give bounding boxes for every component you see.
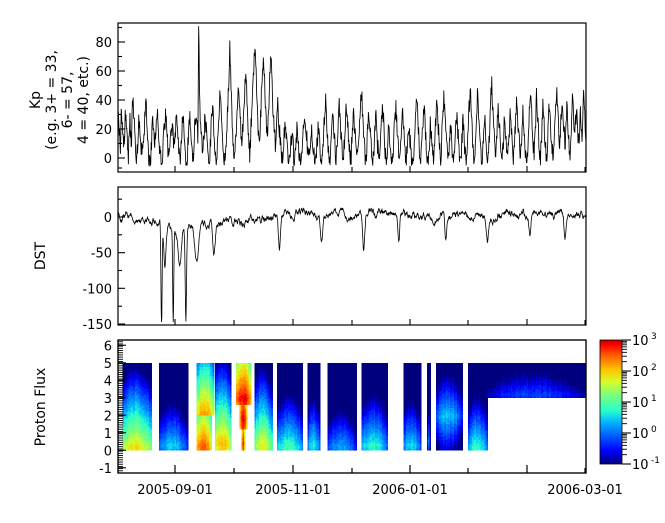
kp-axis-title-line2: (e.g. 3+ = 33, xyxy=(44,50,60,150)
multi-panel-plot: 0 20 40 60 80 Kp (e.g. 3+ = 33, 6- = 57,… xyxy=(0,0,665,523)
kp-ytick-40: 40 xyxy=(95,94,112,109)
flux-cell xyxy=(210,449,212,451)
flux-cell xyxy=(230,449,232,451)
dst-ytick-0: 0 xyxy=(104,211,112,226)
panel-kp: 0 20 40 60 80 Kp (e.g. 3+ = 33, 6- = 57,… xyxy=(28,23,586,172)
figure-root: 0 20 40 60 80 Kp (e.g. 3+ = 33, 6- = 57,… xyxy=(0,0,665,523)
dst-y-tick-labels: 0 -50 -100 -150 xyxy=(82,211,112,333)
dst-ytick-50: -50 xyxy=(91,247,112,262)
kp-ytick-80: 80 xyxy=(95,36,112,51)
kp-plot-frame xyxy=(118,23,586,172)
kp-axis-title: Kp (e.g. 3+ = 33, 6- = 57, 4 = 40, etc.) xyxy=(28,50,92,150)
kp-y-tick-labels: 0 20 40 60 80 xyxy=(95,36,112,167)
kp-axis-title-line4: 4 = 40, etc.) xyxy=(76,56,92,144)
panel-dst: 0 -50 -100 -150 DST xyxy=(33,187,586,333)
flux-cell xyxy=(150,449,152,451)
dst-ytick-150: -150 xyxy=(82,318,112,333)
kp-ytick-20: 20 xyxy=(95,123,112,138)
dst-ytick-100: -100 xyxy=(82,282,112,297)
dst-axis-title-text: DST xyxy=(33,241,49,270)
kp-ytick-0: 0 xyxy=(104,152,112,167)
kp-ytick-60: 60 xyxy=(95,65,112,80)
flux-cell xyxy=(244,449,246,451)
dst-plot-frame xyxy=(118,187,586,325)
flux-cell xyxy=(187,449,189,451)
flux-cell xyxy=(213,414,215,416)
flux-cell xyxy=(250,403,252,405)
kp-axis-title-line1: Kp xyxy=(28,91,44,109)
kp-axis-title-line3: 6- = 57, xyxy=(60,72,76,129)
panel-proton-flux: -10123456 Proton Flux 2005-09-01 2005-11… xyxy=(33,339,623,498)
flux-cell xyxy=(246,428,248,430)
dst-axis-title: DST xyxy=(33,241,49,270)
